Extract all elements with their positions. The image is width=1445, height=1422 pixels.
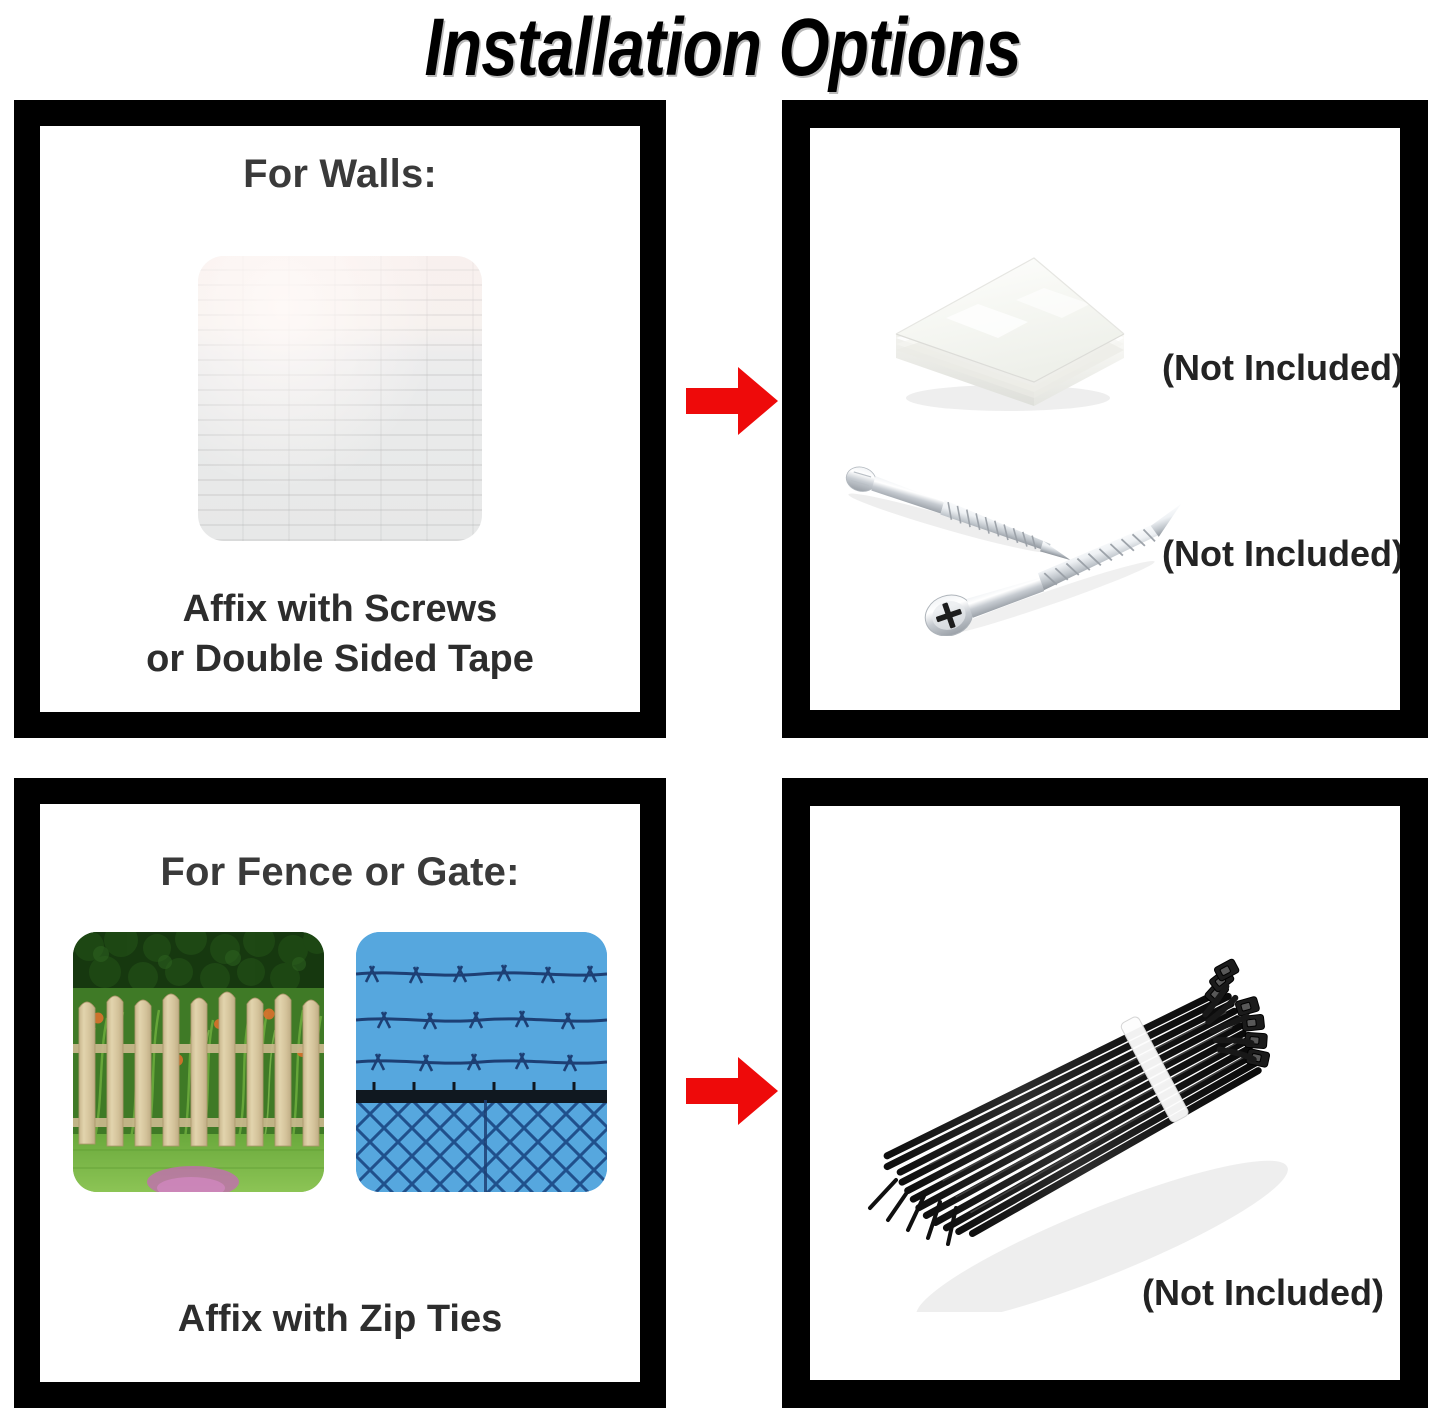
panel-fence-hardware: (Not Included) bbox=[782, 778, 1428, 1408]
walls-heading: For Walls: bbox=[40, 152, 640, 197]
black-zip-tie-bundle-image bbox=[862, 912, 1332, 1312]
arrow-right-icon-bottom bbox=[684, 1054, 780, 1128]
panel-wall-hardware: (Not Included) bbox=[782, 100, 1428, 738]
fence-photo-row bbox=[40, 932, 640, 1192]
white-brick-wall-image bbox=[198, 256, 482, 541]
panel-for-walls-content: For Walls: Affix with Screws or Double S… bbox=[40, 126, 640, 712]
arrow-right-icon-top bbox=[684, 364, 780, 438]
fence-caption: Affix with Zip Ties bbox=[40, 1294, 640, 1344]
page-title: Installation Options bbox=[424, 7, 1020, 89]
panel-for-walls: For Walls: Affix with Screws or Double S… bbox=[14, 100, 666, 738]
page-title-bar: Installation Options bbox=[0, 0, 1445, 96]
ziptie-not-included-label: (Not Included) bbox=[1142, 1272, 1384, 1314]
screw-not-included-label: (Not Included) bbox=[1162, 533, 1400, 575]
fence-heading: For Fence or Gate: bbox=[40, 850, 640, 895]
walls-caption: Affix with Screws or Double Sided Tape bbox=[40, 584, 640, 684]
walls-caption-line-1: Affix with Screws bbox=[40, 584, 640, 634]
tape-not-included-label: (Not Included) bbox=[1162, 347, 1400, 389]
chain-link-barbed-wire-fence-image bbox=[356, 932, 607, 1192]
panel-for-fence-or-gate: For Fence or Gate: bbox=[14, 778, 666, 1408]
panel-wall-hardware-content: (Not Included) bbox=[810, 128, 1400, 710]
wood-screws-image bbox=[834, 446, 1186, 636]
panel-for-fence-content: For Fence or Gate: bbox=[40, 804, 640, 1382]
double-sided-tape-stack-image bbox=[876, 246, 1130, 418]
walls-caption-line-2: or Double Sided Tape bbox=[40, 634, 640, 684]
panel-fence-hardware-content: (Not Included) bbox=[810, 806, 1400, 1380]
wooden-picket-fence-image bbox=[73, 932, 324, 1192]
